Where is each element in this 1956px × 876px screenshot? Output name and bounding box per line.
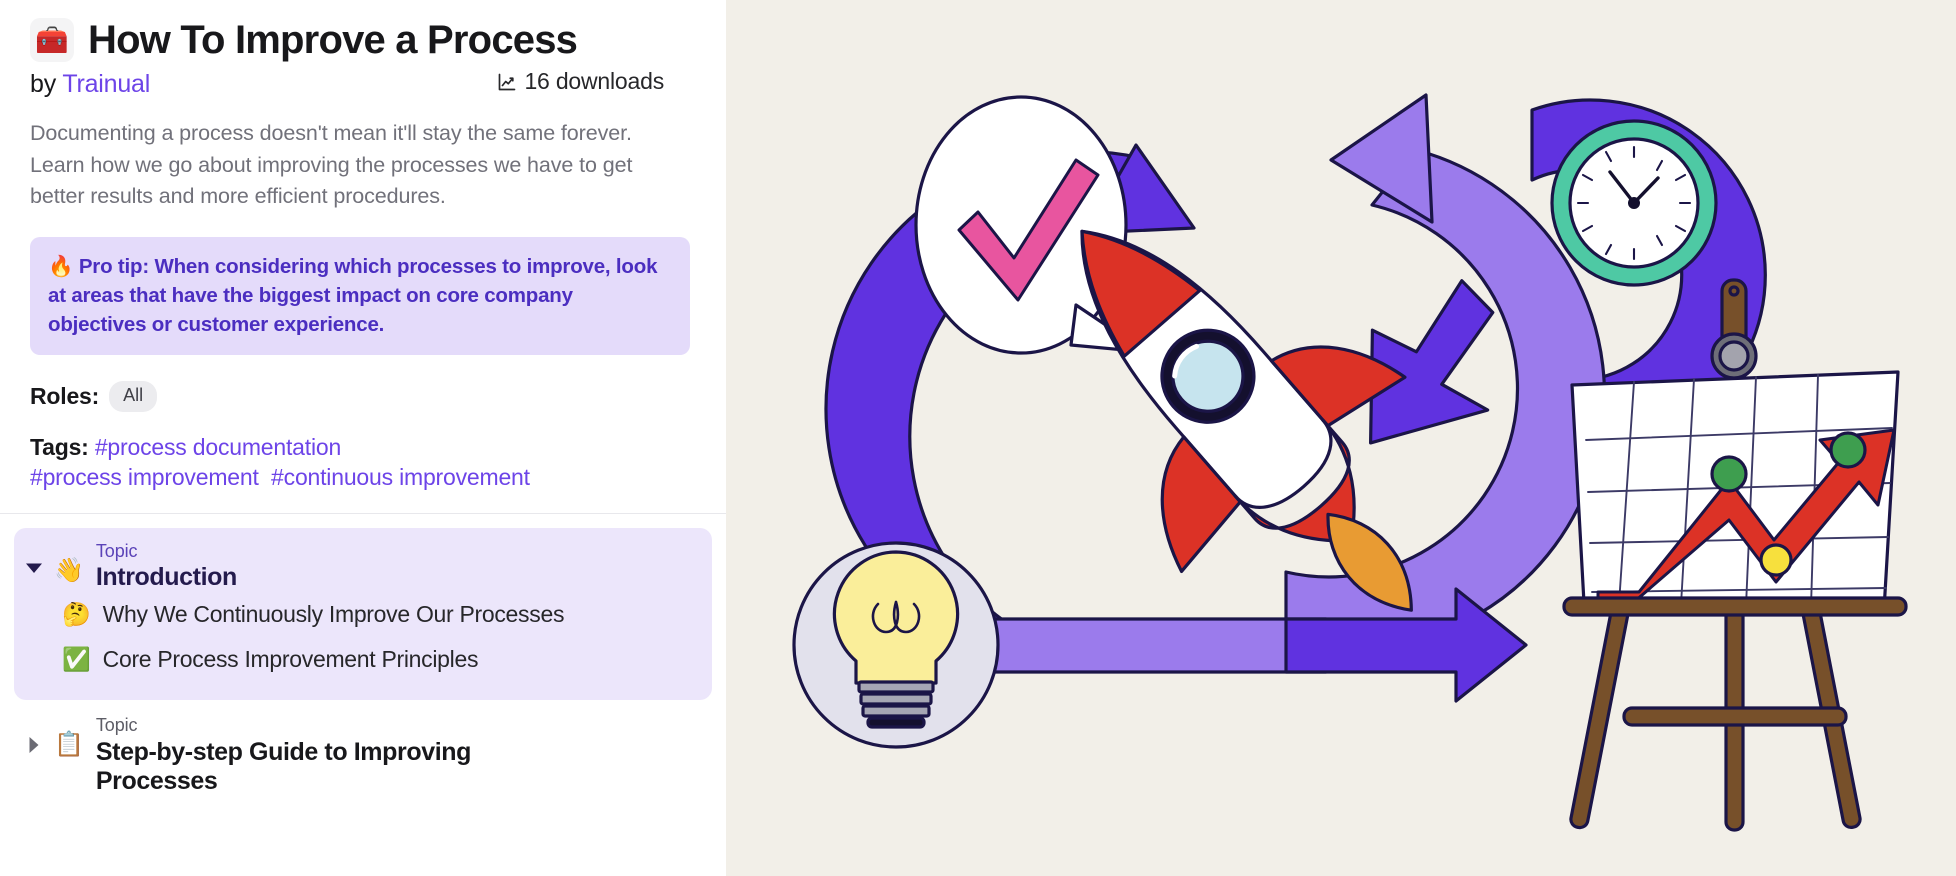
fire-emoji-icon: 🔥 [48, 255, 73, 278]
tag-continuous-improvement[interactable]: #continuous improvement [271, 464, 530, 490]
topic-card-step-by-step-guide[interactable]: 📋 Topic Step-by-step Guide to Improving … [14, 700, 712, 813]
roles-row: Roles: All [30, 381, 696, 412]
subject-label: Core Process Improvement Principles [103, 646, 479, 673]
lightbulb [794, 543, 998, 747]
title-row: 🧰 How To Improve a Process [30, 18, 696, 62]
toolbox-emoji-icon: 🧰 [30, 18, 74, 62]
pro-tip-body: Pro tip: When considering which processe… [48, 255, 657, 336]
subject-label: Why We Continuously Improve Our Processe… [103, 601, 565, 628]
topic-title-step-by-step-guide: Step-by-step Guide to Improving Processe… [96, 738, 536, 796]
easel-cross-bar [1624, 708, 1846, 725]
subject-row-core-process-improvement-principles[interactable]: ✅ Core Process Improvement Principles [24, 637, 702, 682]
roles-label: Roles: [30, 383, 99, 410]
chart-point-yellow [1761, 545, 1791, 575]
role-chip-all[interactable]: All [109, 381, 157, 412]
caret-down-icon[interactable] [24, 540, 44, 574]
tags-line-2: #process improvement #continuous improve… [30, 462, 690, 493]
check-mark-emoji-icon: ✅ [62, 648, 91, 671]
page-title: How To Improve a Process [88, 19, 577, 61]
topic-header-introduction[interactable]: 👋 Topic Introduction [24, 540, 702, 592]
content-panel: 🧰 How To Improve a Process by Trainual 1… [0, 0, 726, 876]
easel-top-tray [1564, 598, 1906, 615]
description-text: Documenting a process doesn't mean it'll… [30, 118, 690, 213]
topic-text-introduction: Topic Introduction [94, 540, 237, 592]
topic-card-introduction[interactable]: 👋 Topic Introduction 🤔 Why We Continuous… [14, 528, 712, 700]
tags-line-1: Tags: #process documentation [30, 432, 690, 463]
topic-header-step-by-step-guide[interactable]: 📋 Topic Step-by-step Guide to Improving … [24, 714, 702, 795]
app-root: 🧰 How To Improve a Process by Trainual 1… [0, 0, 1956, 876]
content-panel-inner: 🧰 How To Improve a Process by Trainual 1… [0, 0, 726, 493]
caret-right-icon[interactable] [24, 714, 44, 754]
trend-chart-icon [497, 72, 517, 92]
byline: by Trainual [30, 70, 150, 99]
wave-emoji-icon: 👋 [54, 540, 84, 583]
pro-tip-callout: 🔥 Pro tip: When considering which proces… [30, 237, 690, 355]
chart-point-green-2 [1831, 433, 1865, 467]
tags-row: Tags: #process documentation #process im… [30, 432, 690, 493]
topic-title-introduction: Introduction [96, 563, 237, 592]
downloads-label: 16 downloads [524, 68, 664, 95]
topic-kicker: Topic [96, 714, 536, 737]
illustration-canvas [726, 0, 1956, 876]
tags-label: Tags: [30, 434, 89, 460]
chart-point-green-1 [1712, 457, 1746, 491]
tag-process-improvement[interactable]: #process improvement [30, 464, 259, 490]
process-improvement-illustration [726, 0, 1956, 876]
thinking-face-emoji-icon: 🤔 [62, 603, 91, 626]
byline-row: by Trainual 16 downloads [30, 68, 696, 100]
byline-prefix: by [30, 70, 62, 98]
wall-clock [1552, 121, 1716, 285]
subject-row-why-we-continuously-improve[interactable]: 🤔 Why We Continuously Improve Our Proces… [24, 592, 702, 637]
topic-kicker: Topic [96, 540, 237, 563]
topic-text-step-by-step-guide: Topic Step-by-step Guide to Improving Pr… [94, 714, 536, 795]
downloads-stat: 16 downloads [497, 68, 664, 95]
tag-process-documentation[interactable]: #process documentation [95, 434, 341, 460]
topics-list: 👋 Topic Introduction 🤔 Why We Continuous… [0, 514, 726, 814]
clipboard-emoji-icon: 📋 [54, 714, 84, 757]
easel-clamp-knob-inner [1720, 342, 1748, 370]
author-link[interactable]: Trainual [62, 70, 150, 98]
pro-tip-text: 🔥 Pro tip: When considering which proces… [48, 252, 672, 339]
